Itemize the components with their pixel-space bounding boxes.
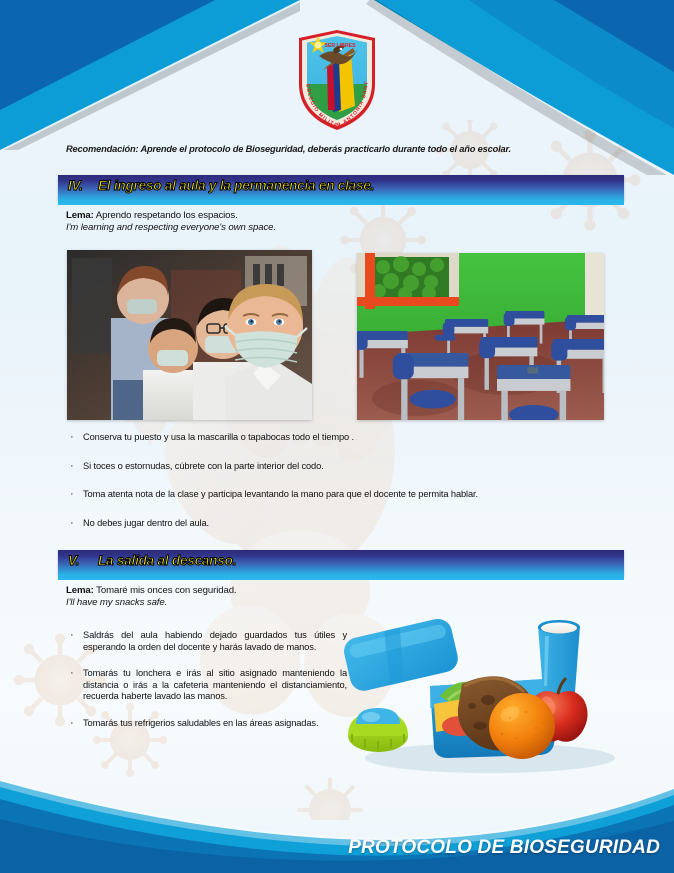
section-header-v-text: V.La salida al descanso. (68, 553, 236, 568)
bullet-text: Si toces o estornudas, cúbrete con la pa… (83, 461, 616, 473)
section-header-iv-text: IV.El ingreso al aula y la permanencia e… (68, 178, 374, 193)
classroom-spaced-desks-photo (357, 253, 604, 420)
students-wearing-masks-photo (67, 250, 312, 420)
list-item: · Conserva tu puesto y usa la mascarilla… (66, 432, 616, 444)
bullet-glyph: · (66, 432, 83, 444)
bullet-glyph: · (66, 461, 83, 473)
lema-v-english: I'll have my snacks safe. (66, 597, 237, 609)
lema-v: Lema: Tomaré mis onces con seguridad. I'… (66, 585, 237, 610)
bullet-text: Conserva tu puesto y usa la mascarilla o… (83, 432, 616, 444)
lema-iv-spanish: Aprendo respetando los espacios. (94, 210, 238, 221)
list-item: · No debes jugar dentro del aula. (66, 518, 616, 530)
section-v-number: V. (68, 553, 98, 568)
list-item: · Tomarás tu lonchera e irás al sitio as… (66, 668, 347, 703)
footer-title: PROTOCOLO DE BIOSEGURIDAD (348, 837, 660, 859)
bullet-glyph: · (66, 718, 83, 730)
lema-iv-english: I'm learning and respecting everyone's o… (66, 222, 276, 234)
bullet-list-iv: · Conserva tu puesto y usa la mascarilla… (66, 432, 616, 529)
list-item: · Tomarás tus refrigerios saludables en … (66, 718, 347, 730)
list-item: · Si toces o estornudas, cúbrete con la … (66, 461, 616, 473)
recommendation-text: Recomendación: Aprende el protocolo de B… (66, 144, 611, 154)
bullet-text: Tomarás tu lonchera e irás al sitio asig… (83, 668, 347, 703)
section-iv-heading: El ingreso al aula y la permanencia en c… (98, 178, 374, 193)
section-header-iv-strip (58, 201, 624, 205)
document-page: SER LIBRES COLEGIO MILITAR ANTONIA SANTO… (0, 0, 674, 873)
section-header-v-strip (58, 576, 624, 580)
bullet-text: No debes jugar dentro del aula. (83, 518, 616, 530)
bullet-glyph: · (66, 518, 83, 530)
section-v-heading: La salida al descanso. (98, 553, 236, 568)
bullet-glyph: · (66, 668, 83, 703)
bullet-text: Tomarás tus refrigerios saludables en la… (83, 718, 347, 730)
svg-text:SER LIBRES: SER LIBRES (324, 43, 356, 49)
bullet-text: Saldrás del aula habiendo dejado guardad… (83, 630, 347, 653)
lema-v-spanish: Tomaré mis onces con seguridad. (94, 585, 237, 596)
section-header-v: V.La salida al descanso. (58, 550, 624, 576)
bullet-glyph: · (66, 630, 83, 653)
bullet-text: Toma atenta nota de la clase y participa… (83, 489, 616, 501)
lema-v-label: Lema: (66, 585, 94, 596)
section-header-iv: IV.El ingreso al aula y la permanencia e… (58, 175, 624, 201)
section-iv-number: IV. (68, 178, 98, 193)
lema-iv: Lema: Aprendo respetando los espacios. I… (66, 210, 276, 235)
lema-iv-label: Lema: (66, 210, 94, 221)
list-item: · Saldrás del aula habiendo dejado guard… (66, 630, 347, 653)
bullet-glyph: · (66, 489, 83, 501)
list-item: · Toma atenta nota de la clase y partici… (66, 489, 616, 501)
bullet-list-v: · Saldrás del aula habiendo dejado guard… (66, 630, 347, 730)
school-crest-logo: SER LIBRES COLEGIO MILITAR ANTONIA SANTO… (293, 28, 381, 133)
